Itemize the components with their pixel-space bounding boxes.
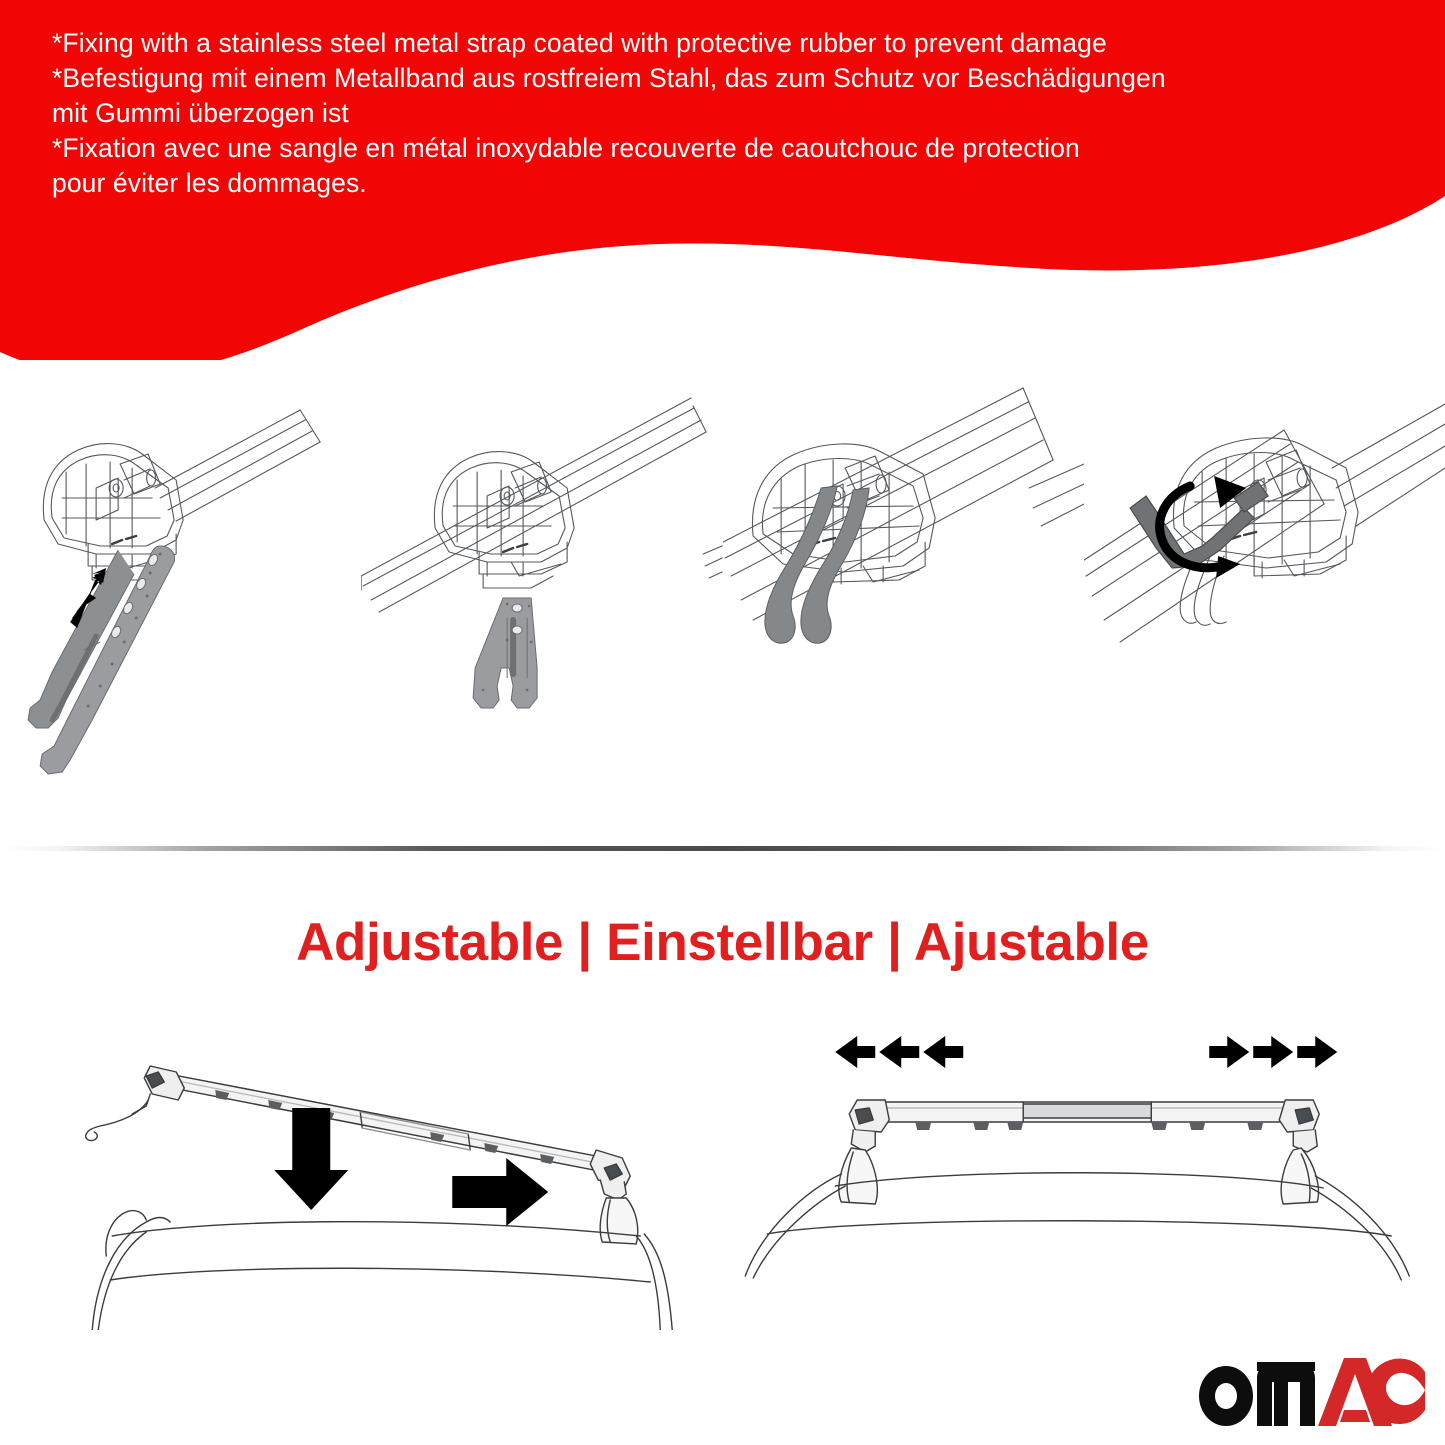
adjust-figure-1-illustration: [0, 1030, 723, 1330]
adjust-figure-2: [723, 1030, 1445, 1330]
arrow-left-triple-icon: [835, 1036, 963, 1068]
metal-strap-looped: [764, 486, 868, 643]
step-1-illustration: [0, 368, 361, 828]
install-step-3: [723, 368, 1084, 828]
arrow-right-icon: [452, 1158, 548, 1226]
omac-logo-mark: [1196, 1352, 1426, 1430]
adjustability-figures: [0, 1030, 1445, 1330]
adjust-figure-2-illustration: [723, 1030, 1445, 1330]
section-divider: [0, 846, 1445, 851]
logo-letter-o: [1199, 1366, 1253, 1426]
installation-steps-strip: [0, 368, 1445, 828]
install-step-4: [1084, 368, 1445, 828]
install-step-1: [0, 368, 361, 828]
product-infographic-page: *Fixing with a stainless steel metal str…: [0, 0, 1445, 1445]
step-2-illustration: [361, 368, 722, 828]
arrow-right-triple-icon: [1209, 1036, 1337, 1068]
adjustable-headline: Adjustable | Einstellbar | Ajustable: [0, 912, 1445, 973]
omac-logo: [1196, 1352, 1426, 1430]
metal-strap: [473, 598, 537, 708]
logo-letter-m: [1257, 1362, 1315, 1426]
step-3-illustration: [723, 368, 1084, 828]
arrow-down-icon: [274, 1108, 348, 1210]
adjust-figure-1: [0, 1030, 723, 1330]
step-4-illustration: [1084, 368, 1445, 828]
red-banner: *Fixing with a stainless steel metal str…: [0, 0, 1445, 360]
install-step-2: [361, 368, 722, 828]
banner-text: *Fixing with a stainless steel metal str…: [52, 26, 1422, 201]
